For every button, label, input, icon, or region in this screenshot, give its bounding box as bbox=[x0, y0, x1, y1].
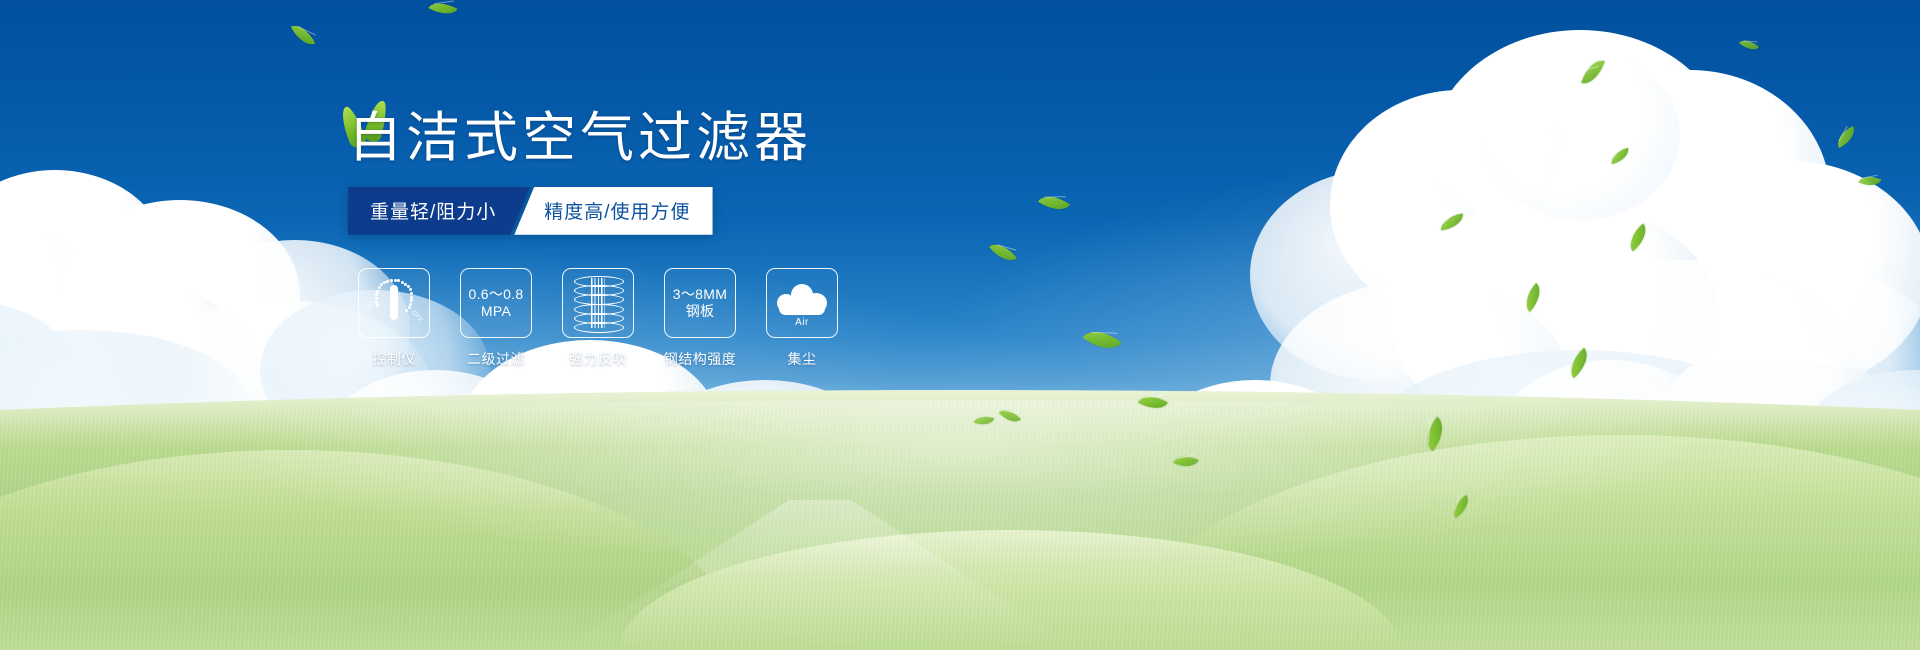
steel-material: 钢板 bbox=[673, 303, 727, 320]
tag-secondary[interactable]: 精度高/使用方便 bbox=[514, 187, 712, 235]
pressure-icon: 0.6～0.8 MPA bbox=[468, 286, 523, 320]
dial-dot bbox=[390, 279, 393, 282]
dial-dot bbox=[397, 279, 400, 282]
dial-dot bbox=[410, 299, 413, 302]
feature-item-pressure[interactable]: 0.6～0.8 MPA 二级过滤 bbox=[459, 268, 533, 369]
tag-primary[interactable]: 重量轻/阻力小 bbox=[348, 187, 530, 235]
air-label: Air bbox=[775, 317, 829, 328]
dial-dot bbox=[376, 290, 379, 293]
hero-content: 自洁式空气过滤器 重量轻/阻力小 精度高/使用方便 bbox=[348, 110, 1108, 235]
feature-box: NO OFF bbox=[358, 268, 430, 338]
feature-label: 钢结构强度 bbox=[664, 349, 737, 369]
cloud-puff bbox=[1480, 50, 1680, 220]
dial-dot bbox=[410, 292, 413, 295]
pressure-value: 0.6～0.8 bbox=[468, 286, 523, 302]
dial-dot bbox=[410, 296, 413, 299]
dial-dot bbox=[380, 283, 383, 286]
dial-needle bbox=[390, 285, 398, 320]
dial-dot bbox=[394, 279, 397, 282]
dial-dot bbox=[375, 293, 378, 296]
feature-label: 集尘 bbox=[788, 349, 817, 369]
steel-thickness: 3～8MM bbox=[673, 286, 727, 302]
pressure-unit: MPA bbox=[468, 303, 523, 320]
banner-title: 自洁式空气过滤器 bbox=[348, 110, 1108, 167]
dial-dot bbox=[405, 309, 408, 312]
feature-box: Air bbox=[766, 268, 838, 338]
cloud-base bbox=[779, 302, 825, 315]
dial-dot bbox=[375, 297, 378, 300]
tag-bar: 重量轻/阻力小 精度高/使用方便 bbox=[348, 187, 713, 235]
feature-item-control[interactable]: NO OFF 控制仪 bbox=[357, 268, 431, 369]
feature-label: 二级过滤 bbox=[467, 349, 525, 369]
hero-banner: 自洁式空气过滤器 重量轻/阻力小 精度高/使用方便 NO OFF 控制仪 0.6… bbox=[0, 0, 1920, 650]
dial-dot bbox=[376, 304, 379, 307]
feature-label: 强力反吹 bbox=[569, 349, 627, 369]
filter-core bbox=[591, 278, 605, 328]
filter-stack-icon bbox=[574, 276, 622, 330]
feature-item-backblow[interactable]: 强力反吹 bbox=[561, 268, 635, 369]
dial-dot bbox=[408, 306, 411, 309]
air-cloud-icon: Air bbox=[775, 280, 829, 326]
feature-list: NO OFF 控制仪 0.6～0.8 MPA 二级过滤 强力反吹 bbox=[357, 268, 839, 369]
steel-plate-icon: 3～8MM 钢板 bbox=[673, 286, 727, 320]
feature-item-dust[interactable]: Air 集尘 bbox=[765, 268, 839, 369]
feature-box: 0.6～0.8 MPA bbox=[460, 268, 532, 338]
dial-icon: NO OFF bbox=[366, 276, 422, 330]
feature-label: 控制仪 bbox=[372, 349, 416, 369]
feature-item-steel[interactable]: 3～8MM 钢板 钢结构强度 bbox=[663, 268, 737, 369]
feature-box bbox=[562, 268, 634, 338]
dial-dot bbox=[378, 286, 381, 289]
feature-box: 3～8MM 钢板 bbox=[664, 268, 736, 338]
dial-dot bbox=[386, 280, 389, 283]
